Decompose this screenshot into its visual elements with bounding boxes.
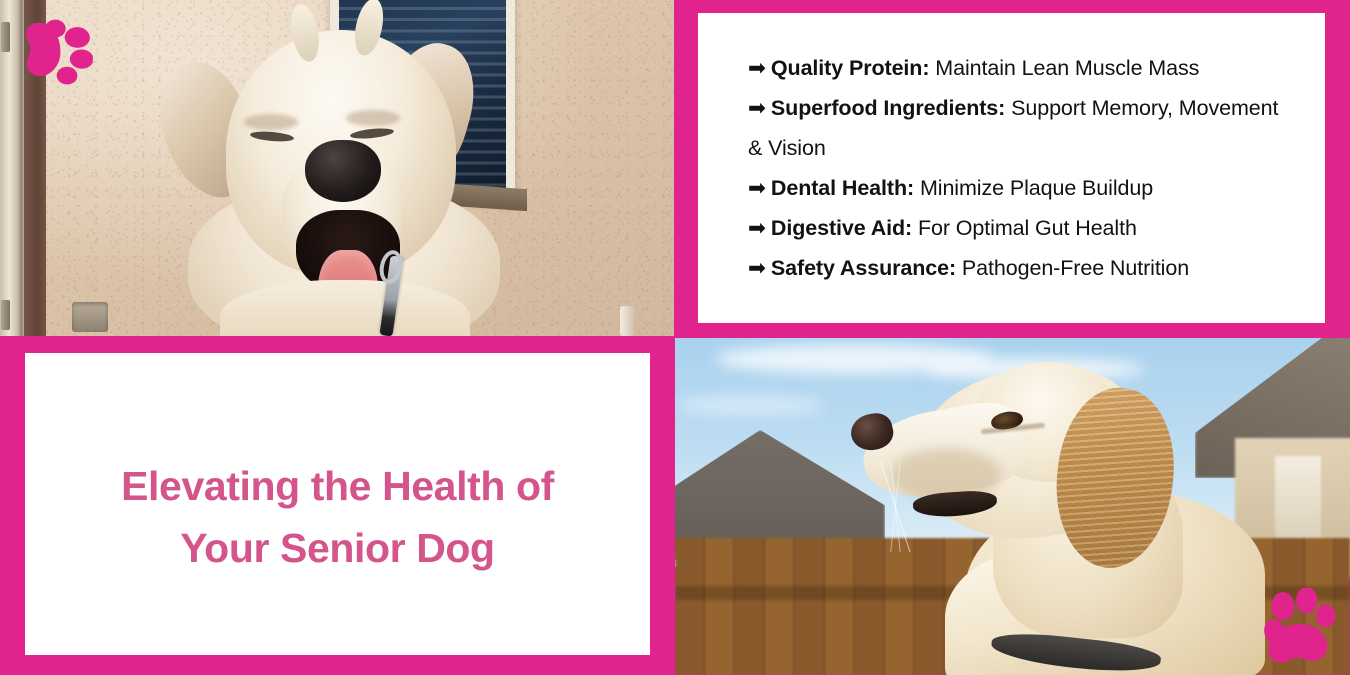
paw-print-icon (18, 14, 95, 93)
benefit-item: ➡Superfood Ingredients: Support Memory, … (748, 88, 1295, 168)
benefits-card: ➡Quality Protein: Maintain Lean Muscle M… (698, 13, 1325, 323)
door-hinge (1, 300, 10, 330)
benefit-description: Pathogen-Free Nutrition (962, 256, 1189, 280)
arrow-icon: ➡ (748, 56, 766, 80)
headline-line-2: Your Senior Dog (180, 525, 494, 571)
headline-line-1: Elevating the Health of (121, 463, 554, 509)
dog-panting (170, 12, 510, 336)
headline-card: Elevating the Health of Your Senior Dog (25, 353, 650, 655)
benefit-term: Safety Assurance: (771, 256, 956, 280)
door-hinge (1, 22, 10, 52)
page-title: Elevating the Health of Your Senior Dog (25, 455, 650, 580)
arrow-icon: ➡ (748, 176, 766, 200)
photo-panting-senior-dog (0, 0, 674, 336)
benefit-term: Quality Protein: (771, 56, 929, 80)
benefit-item: ➡Quality Protein: Maintain Lean Muscle M… (748, 48, 1295, 88)
photo-golden-retriever-profile (675, 338, 1350, 675)
wall-outlet (72, 302, 108, 332)
dog-nose (305, 140, 381, 202)
poster-canvas: ➡Quality Protein: Maintain Lean Muscle M… (0, 0, 1350, 675)
arrow-icon: ➡ (748, 256, 766, 280)
benefit-term: Digestive Aid: (771, 216, 912, 240)
benefit-item: ➡Dental Health: Minimize Plaque Buildup (748, 168, 1295, 208)
benefit-term: Superfood Ingredients: (771, 96, 1005, 120)
golden-retriever (795, 352, 1255, 675)
paw-print-icon (1258, 588, 1344, 670)
benefit-item: ➡Digestive Aid: For Optimal Gut Health (748, 208, 1295, 248)
arrow-icon: ➡ (748, 96, 766, 120)
benefit-description: Maintain Lean Muscle Mass (935, 56, 1199, 80)
benefit-item: ➡Safety Assurance: Pathogen-Free Nutriti… (748, 248, 1295, 288)
benefit-term: Dental Health: (771, 176, 914, 200)
wall-pipe (620, 306, 634, 336)
dog-whiskers (831, 462, 961, 552)
benefit-description: For Optimal Gut Health (918, 216, 1137, 240)
dog-brow-left (244, 114, 298, 130)
dog-brow-right (346, 110, 400, 126)
benefit-description: Minimize Plaque Buildup (920, 176, 1153, 200)
arrow-icon: ➡ (748, 216, 766, 240)
